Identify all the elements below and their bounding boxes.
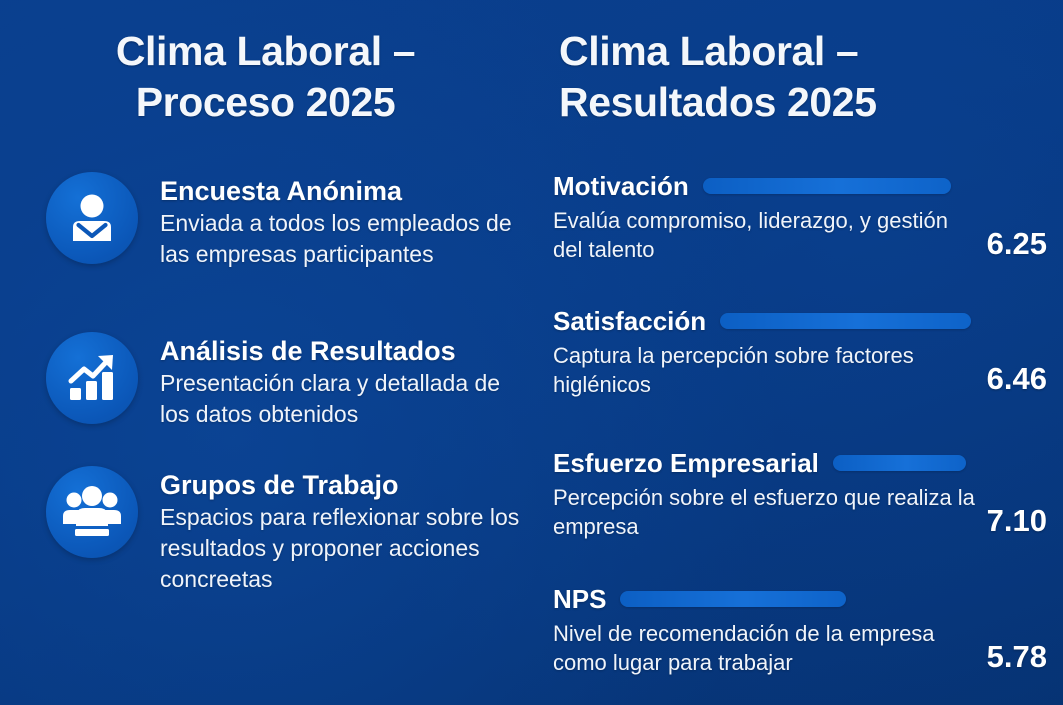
result-desc: Captura la percepción sobre factores hig… <box>553 341 987 399</box>
result-name: Satisfacción <box>553 306 706 337</box>
left-title-line-2: Proceso 2025 <box>0 77 531 128</box>
process-item-analisis-de-resultados: Análisis de Resultados Presentación clar… <box>46 332 520 430</box>
result-header: NPS <box>553 583 1053 615</box>
result-name: NPS <box>553 584 606 615</box>
result-item-satisfaccion: Satisfacción Captura la percepción sobre… <box>553 305 1053 399</box>
infographic-canvas: Clima Laboral – Proceso 2025 Encuesta An… <box>0 0 1063 705</box>
process-item-title: Grupos de Trabajo <box>160 470 520 500</box>
result-body: Evalúa compromiso, liderazgo, y gestión … <box>553 206 1053 264</box>
result-body: Nivel de recomendación de la empresa com… <box>553 619 1053 677</box>
process-item-text: Análisis de Resultados Presentación clar… <box>160 332 520 430</box>
result-accent-bar <box>833 455 966 471</box>
process-item-desc: Enviada a todos los empleados de las emp… <box>160 208 520 270</box>
result-score: 7.10 <box>987 503 1053 541</box>
result-item-nps: NPS Nivel de recomendación de la empresa… <box>553 583 1053 677</box>
result-score: 5.78 <box>987 639 1053 677</box>
left-title-line-1: Clima Laboral – <box>0 26 531 77</box>
result-accent-bar <box>703 178 951 194</box>
result-accent-bar <box>720 313 971 329</box>
process-item-desc: Espacios para reflexionar sobre los resu… <box>160 502 520 594</box>
person-envelope-icon <box>46 172 138 264</box>
right-title-line-1: Clima Laboral – <box>559 26 1029 77</box>
right-column-title: Clima Laboral – Resultados 2025 <box>559 26 1029 129</box>
process-item-title: Encuesta Anónima <box>160 176 520 206</box>
process-item-text: Encuesta Anónima Enviada a todos los emp… <box>160 172 520 270</box>
result-item-motivacion: Motivación Evalúa compromiso, liderazgo,… <box>553 170 1053 264</box>
result-header: Esfuerzo Empresarial <box>553 447 1053 479</box>
result-item-esfuerzo-empresarial: Esfuerzo Empresarial Percepción sobre el… <box>553 447 1053 541</box>
result-desc: Nivel de recomendación de la empresa com… <box>553 619 987 677</box>
result-score: 6.46 <box>987 361 1053 399</box>
left-column-title: Clima Laboral – Proceso 2025 <box>0 26 531 129</box>
result-name: Esfuerzo Empresarial <box>553 448 819 479</box>
result-desc: Percepción sobre el esfuerzo que realiza… <box>553 483 987 541</box>
result-desc: Evalúa compromiso, liderazgo, y gestión … <box>553 206 987 264</box>
result-header: Motivación <box>553 170 1053 202</box>
right-title-line-2: Resultados 2025 <box>559 77 1029 128</box>
process-item-desc: Presentación clara y detallada de los da… <box>160 368 520 430</box>
process-item-encuesta-anonima: Encuesta Anónima Enviada a todos los emp… <box>46 172 520 270</box>
result-accent-bar <box>620 591 846 607</box>
process-item-grupos-de-trabajo: Grupos de Trabajo Espacios para reflexio… <box>46 466 520 595</box>
process-item-text: Grupos de Trabajo Espacios para reflexio… <box>160 466 520 595</box>
people-group-icon <box>46 466 138 558</box>
result-header: Satisfacción <box>553 305 1053 337</box>
process-item-title: Análisis de Resultados <box>160 336 520 366</box>
result-name: Motivación <box>553 171 689 202</box>
result-body: Captura la percepción sobre factores hig… <box>553 341 1053 399</box>
bar-chart-arrow-up-icon <box>46 332 138 424</box>
result-score: 6.25 <box>987 226 1053 264</box>
result-body: Percepción sobre el esfuerzo que realiza… <box>553 483 1053 541</box>
process-column: Clima Laboral – Proceso 2025 Encuesta An… <box>0 0 531 705</box>
results-column: Clima Laboral – Resultados 2025 Motivaci… <box>531 0 1063 705</box>
